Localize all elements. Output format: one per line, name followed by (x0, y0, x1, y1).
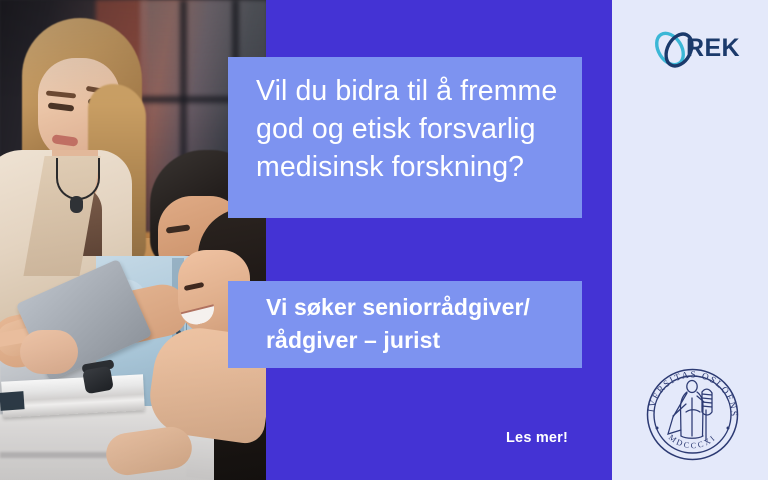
subheadline-text: Vi søker seniorrådgiver/ rådgiver – juri… (266, 291, 576, 357)
team-photo (0, 0, 266, 480)
read-more-link[interactable]: Les mer! (506, 430, 568, 446)
rek-wordmark: REK (686, 34, 740, 63)
uio-seal: UNIVERSITAS OSLOENSIS MDCCCXI (640, 362, 745, 467)
rek-logo[interactable]: REK (650, 26, 745, 72)
headline-text: Vil du bidra til å fremme god og etisk f… (256, 72, 566, 186)
recruitment-banner: Vil du bidra til å fremme god og etisk f… (0, 0, 768, 480)
uio-seal-icon: UNIVERSITAS OSLOENSIS MDCCCXI (640, 362, 745, 467)
